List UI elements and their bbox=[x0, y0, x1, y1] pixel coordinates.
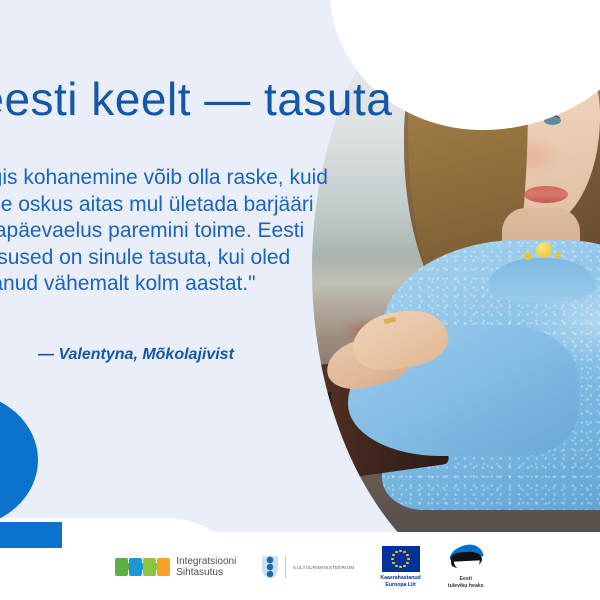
logo-integratsiooni-sihtasutus: Integratsiooni Sihtasutus bbox=[115, 556, 236, 578]
coat-of-arms-icon bbox=[262, 556, 278, 578]
estonian-flag-swoosh-icon bbox=[447, 545, 485, 573]
language-course-banner: Õpi eesti keelt — tasuta "Uues riigis ko… bbox=[0, 0, 600, 600]
logo-label-ministry: KULTUURIMINISTEERIUM bbox=[293, 565, 354, 570]
logo-label-eu: Kaasrahastanud Euroopa Liit bbox=[380, 575, 420, 588]
subject-lips bbox=[524, 186, 568, 203]
logo-label-integratsiooni: Integratsiooni Sihtasutus bbox=[176, 556, 236, 578]
logo-kultuuriministeerium: KULTUURIMINISTEERIUM bbox=[262, 556, 354, 578]
subject-necklace bbox=[536, 242, 552, 258]
eu-flag-icon bbox=[382, 546, 420, 572]
puzzle-icon bbox=[115, 558, 170, 576]
subject-collar bbox=[488, 258, 596, 302]
logo-label-eesti: Eesti tuleviku heaks bbox=[447, 576, 485, 589]
testimonial-attribution: — Valentyna, Mõkolajivist bbox=[38, 346, 234, 364]
decorative-blue-leaf bbox=[0, 392, 38, 528]
footer-logo-row: Integratsiooni Sihtasutus KULTUURIMINIST… bbox=[0, 538, 600, 596]
logo-divider bbox=[285, 556, 286, 578]
logo-eesti-tuleviku-heaks: Eesti tuleviku heaks bbox=[447, 545, 485, 589]
page-title: Õpi eesti keelt — tasuta bbox=[0, 72, 412, 126]
testimonial-quote: "Uues riigis kohanemine võib olla raske,… bbox=[0, 165, 332, 298]
logo-euroopa-liit: Kaasrahastanud Euroopa Liit bbox=[380, 546, 420, 588]
